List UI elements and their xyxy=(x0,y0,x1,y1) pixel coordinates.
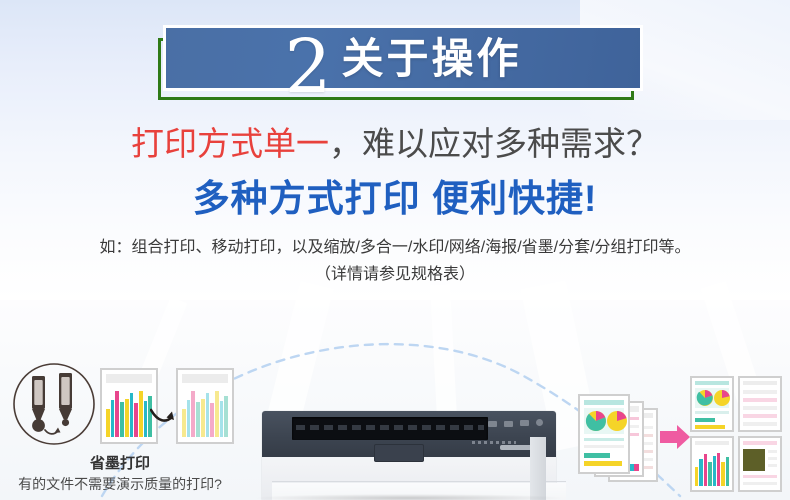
document-stack xyxy=(574,392,660,484)
problem-highlight-text: 打印方式单一 xyxy=(131,125,329,162)
document-header-bar xyxy=(106,374,152,383)
ink-cartridge-circle-icon xyxy=(12,362,96,446)
grid-page-2 xyxy=(738,376,782,432)
printer-output-tray xyxy=(374,444,424,462)
problem-rest-text: ，难以应对多种需求？ xyxy=(329,125,659,162)
banner-content: 2 关于操作 xyxy=(166,28,640,88)
printer-body xyxy=(262,411,556,500)
spec-reference-note: （详情请参见规格表） xyxy=(0,263,790,287)
laser-printer-photo xyxy=(252,385,566,500)
solution-headline: 多种方式打印 便利快捷! xyxy=(0,176,790,222)
section-banner: 2 关于操作 xyxy=(0,14,790,104)
printer-paper-slot xyxy=(292,417,488,440)
stack-sheet-front xyxy=(578,394,630,474)
document-header-bar xyxy=(182,374,228,383)
grid-page-3 xyxy=(690,436,734,492)
eco-print-subtitle: 有的文件不需要演示质量的打印? xyxy=(4,475,236,494)
grid-page-1 xyxy=(690,376,734,432)
conversion-arrow-icon xyxy=(150,406,174,426)
grid-page-4 xyxy=(738,436,782,492)
pink-right-arrow xyxy=(660,424,690,450)
printer-shadow xyxy=(256,494,562,500)
bar-chart-toner-save xyxy=(182,389,228,437)
eco-print-title: 省墨打印 xyxy=(4,454,236,474)
printer-seam xyxy=(272,481,566,482)
feature-detail-text: 如：组合打印、移动打印，以及缩放/多合一/水印/网络/海报/省墨/分套/分组打印… xyxy=(0,236,790,260)
n-up-document-grid xyxy=(690,376,786,494)
banner-section-number: 2 xyxy=(284,37,329,97)
promo-page: 2 关于操作 打印方式单一，难以应对多种需求？ 多种方式打印 便利快捷! 如：组… xyxy=(0,0,790,500)
eco-print-block: 省墨打印 有的文件不需要演示质量的打印? xyxy=(4,358,236,500)
pie-chart-icons xyxy=(696,389,732,407)
pie-chart-icons xyxy=(585,409,629,433)
bar-chart-full-color xyxy=(106,389,152,437)
printer-status-leds xyxy=(472,441,516,444)
problem-headline: 打印方式单一，难以应对多种需求？ xyxy=(0,124,790,164)
toner-save-chart-document xyxy=(176,368,234,444)
banner-section-title: 关于操作 xyxy=(342,35,522,83)
printer-top-cover xyxy=(262,411,556,457)
printer-side-panel xyxy=(530,437,546,500)
